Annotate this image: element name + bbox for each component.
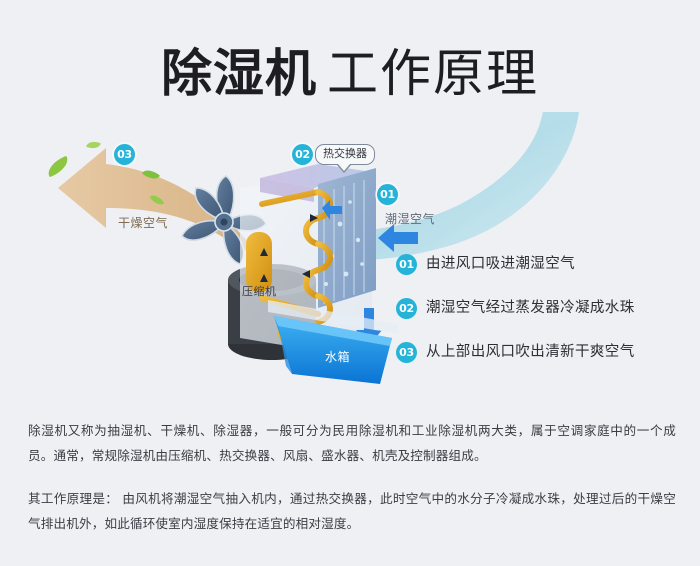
diagram-badge-02: 02 xyxy=(292,144,313,165)
legend-badge-01: 01 xyxy=(396,254,417,275)
infographic-page: 除湿机工作原理 xyxy=(0,0,700,566)
body-paragraph-2: 其工作原理是： 由风机将潮湿空气抽入机内，通过热交换器，此时空气中的水分子冷凝成… xyxy=(28,486,676,536)
legend-text-01: 由进风口吸进潮湿空气 xyxy=(426,254,575,274)
legend-text-03: 从上部出风口吹出清新干爽空气 xyxy=(426,342,635,362)
legend-list: 01 由进风口吸进潮湿空气 02 潮湿空气经过蒸发器冷凝成水珠 03 从上部出风… xyxy=(396,252,692,384)
body-copy: 除湿机又称为抽湿机、干燥机、除湿器，一般可分为民用除湿机和工业除湿机两大类，属于… xyxy=(28,418,676,536)
legend-badge-03: 03 xyxy=(396,342,417,363)
label-water-tank: 水箱 xyxy=(325,348,350,365)
legend-badge-02: 02 xyxy=(396,298,417,319)
legend-item: 03 从上部出风口吹出清新干爽空气 xyxy=(396,340,692,384)
legend-item: 02 潮湿空气经过蒸发器冷凝成水珠 xyxy=(396,296,692,340)
page-title-bold: 除湿机 xyxy=(161,45,317,104)
page-title-light: 工作原理 xyxy=(327,45,539,104)
legend-item: 01 由进风口吸进潮湿空气 xyxy=(396,252,692,296)
dehumidifier-machine-illustration xyxy=(222,148,422,388)
page-title: 除湿机工作原理 xyxy=(0,32,700,106)
diagram-badge-01: 01 xyxy=(377,184,398,205)
legend-text-02: 潮湿空气经过蒸发器冷凝成水珠 xyxy=(426,298,635,318)
diagram-badge-03: 03 xyxy=(114,144,135,165)
label-compressor: 压缩机 xyxy=(242,283,277,299)
label-dry-air: 干燥空气 xyxy=(118,214,168,231)
body-paragraph-1: 除湿机又称为抽湿机、干燥机、除湿器，一般可分为民用除湿机和工业除湿机两大类，属于… xyxy=(28,418,676,468)
callout-heat-exchanger: 热交换器 xyxy=(315,144,375,165)
label-humid-air: 潮湿空气 xyxy=(385,210,435,227)
